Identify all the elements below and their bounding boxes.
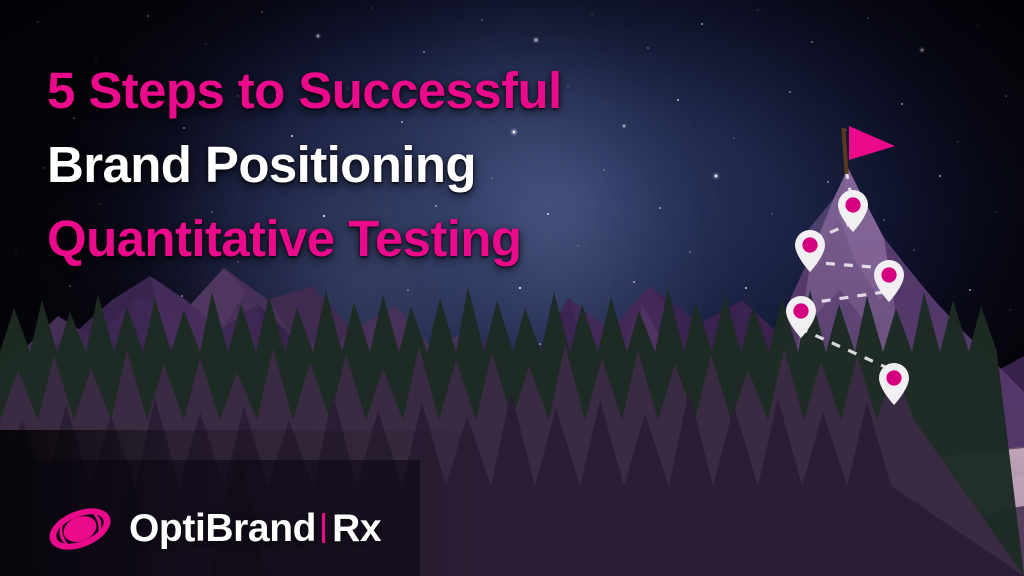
- summit-flag: [841, 126, 895, 174]
- logo-name-secondary: Rx: [332, 507, 381, 551]
- title-line-2: Brand Positioning: [47, 128, 562, 202]
- hero-banner: 5 Steps to Successful Brand Positioning …: [0, 0, 1024, 576]
- hero-title: 5 Steps to Successful Brand Positioning …: [47, 54, 562, 276]
- optibrand-swoosh-icon: [44, 506, 116, 552]
- logo-wordmark: OptiBrand Rx: [129, 507, 381, 551]
- optibrand-rx-logo[interactable]: OptiBrand Rx: [44, 506, 381, 552]
- logo-separator-bar: [322, 513, 325, 543]
- title-line-3: Quantitative Testing: [47, 202, 562, 276]
- title-line-1: 5 Steps to Successful: [47, 54, 562, 128]
- logo-name-primary: OptiBrand: [129, 507, 316, 551]
